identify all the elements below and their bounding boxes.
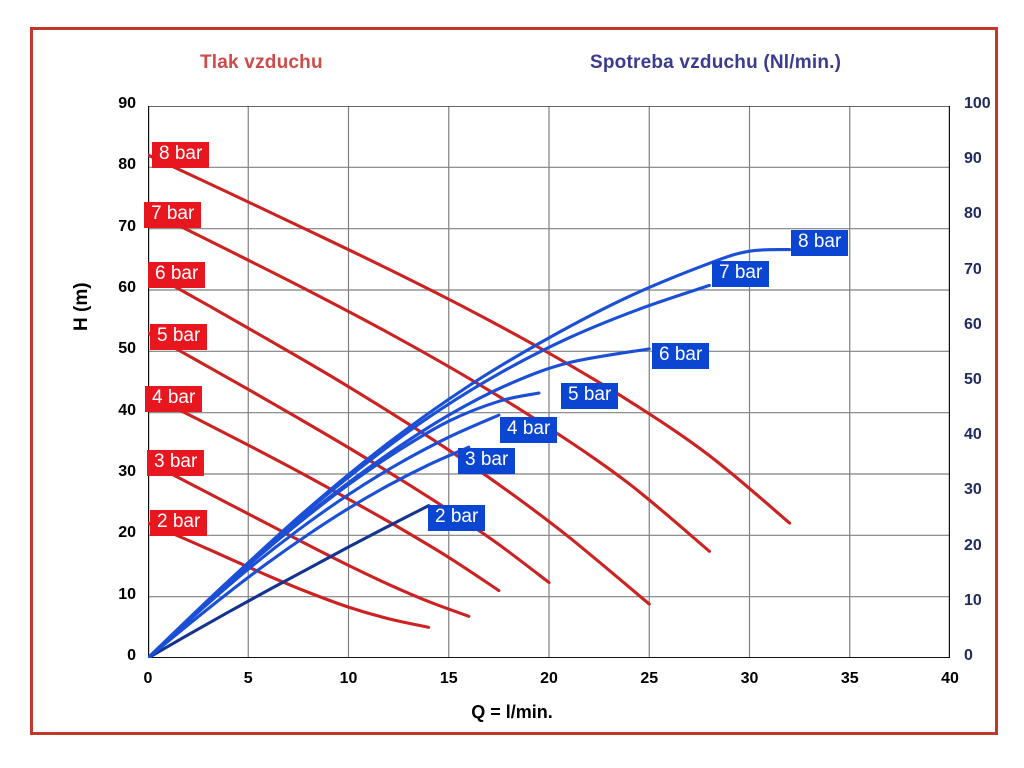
y-axis-right-tick-label: 40 bbox=[964, 426, 1000, 444]
pressure-curve-label-4-bar: 4 bar bbox=[145, 386, 202, 412]
y-axis-right-tick-label: 100 bbox=[964, 95, 1000, 113]
x-axis-tick-label: 40 bbox=[930, 670, 970, 688]
y-axis-left-tick-label: 90 bbox=[102, 95, 136, 113]
x-axis-tick-label: 5 bbox=[228, 670, 268, 688]
pressure-curve-label-2-bar: 2 bar bbox=[150, 510, 207, 536]
y-axis-label: H (m) bbox=[71, 291, 93, 331]
pressure-curve-label-3-bar: 3 bar bbox=[147, 450, 204, 476]
x-axis-tick-label: 30 bbox=[730, 670, 770, 688]
y-axis-left-tick-label: 80 bbox=[102, 156, 136, 174]
y-axis-right-tick-label: 60 bbox=[964, 316, 1000, 334]
y-axis-left-tick-label: 50 bbox=[102, 340, 136, 358]
y-axis-right-tick-label: 70 bbox=[964, 261, 1000, 279]
plot-area bbox=[148, 106, 950, 658]
x-axis-tick-label: 35 bbox=[830, 670, 870, 688]
x-axis-tick-label: 15 bbox=[429, 670, 469, 688]
chart-title-air-consumption: Spotreba vzduchu (Nl/min.) bbox=[590, 52, 841, 74]
air-curve-label-4-bar: 4 bar bbox=[500, 417, 557, 443]
y-axis-right-tick-label: 30 bbox=[964, 481, 1000, 499]
pressure-curve-label-8-bar: 8 bar bbox=[152, 142, 209, 168]
y-axis-right-tick-label: 0 bbox=[964, 647, 1000, 665]
x-axis-tick-label: 10 bbox=[329, 670, 369, 688]
chart-title-pressure: Tlak vzduchu bbox=[200, 52, 323, 74]
y-axis-left-tick-label: 10 bbox=[102, 586, 136, 604]
air-curve-label-6-bar: 6 bar bbox=[652, 343, 709, 369]
y-axis-right-tick-label: 90 bbox=[964, 150, 1000, 168]
pressure-curve-label-7-bar: 7 bar bbox=[144, 202, 201, 228]
plot-svg bbox=[148, 106, 950, 658]
air-curve-label-5-bar: 5 bar bbox=[561, 383, 618, 409]
air-curve-label-8-bar: 8 bar bbox=[791, 230, 848, 256]
x-axis-tick-label: 20 bbox=[529, 670, 569, 688]
y-axis-left-tick-label: 0 bbox=[102, 647, 136, 665]
pressure-curve-label-6-bar: 6 bar bbox=[148, 262, 205, 288]
y-axis-right-tick-label: 20 bbox=[964, 537, 1000, 555]
air-curve-label-7-bar: 7 bar bbox=[712, 261, 769, 287]
y-axis-left-tick-label: 70 bbox=[102, 218, 136, 236]
y-axis-right-tick-label: 50 bbox=[964, 371, 1000, 389]
y-axis-left-tick-label: 30 bbox=[102, 463, 136, 481]
air-curve-label-3-bar: 3 bar bbox=[458, 448, 515, 474]
y-axis-right-tick-label: 10 bbox=[964, 592, 1000, 610]
x-axis-tick-label: 0 bbox=[128, 670, 168, 688]
x-axis-tick-label: 25 bbox=[629, 670, 669, 688]
pressure-curve-label-5-bar: 5 bar bbox=[150, 324, 207, 350]
y-axis-right-tick-label: 80 bbox=[964, 205, 1000, 223]
y-axis-left-tick-label: 60 bbox=[102, 279, 136, 297]
air-curve-label-2-bar: 2 bar bbox=[428, 505, 485, 531]
x-axis-label: Q = l/min. bbox=[0, 702, 1024, 723]
y-axis-left-tick-label: 40 bbox=[102, 402, 136, 420]
y-axis-left-tick-label: 20 bbox=[102, 524, 136, 542]
chart-root: Tlak vzduchu Spotreba vzduchu (Nl/min.) … bbox=[0, 0, 1024, 768]
